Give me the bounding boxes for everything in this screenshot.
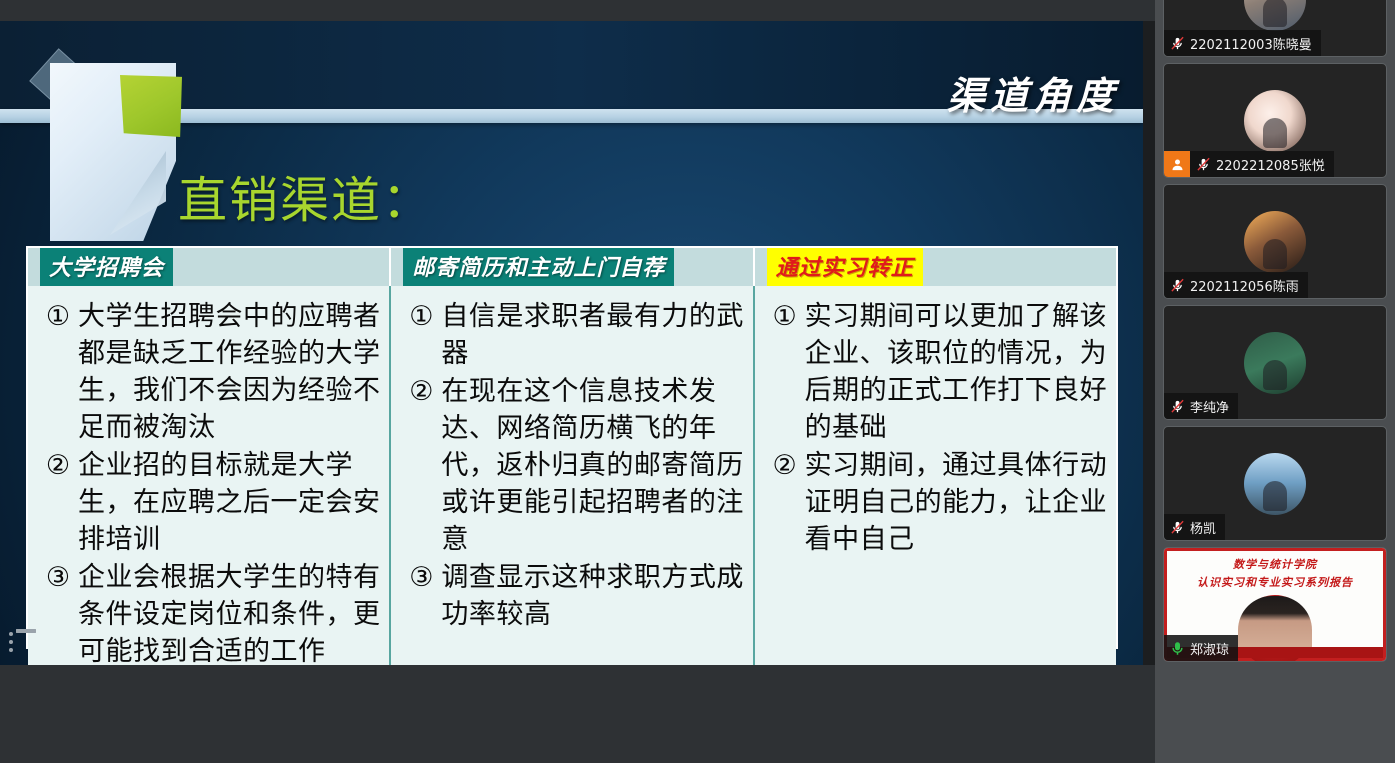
participant-nameplate: 2202212085张悦 [1164,151,1334,177]
participant-tile[interactable]: 2202112003陈晓曼 [1163,0,1387,57]
participant-name: 2202112003陈晓曼 [1190,34,1312,53]
list-item-number: ② [765,447,805,484]
mic-muted-icon [1164,398,1190,415]
list-item-text: 在现在这个信息技术发达、网络简历横飞的年代，返朴归真的邮寄简历或许更能引起招聘者… [441,373,744,558]
list-item: ② 实习期间，通过具体行动证明自己的能力，让企业看中自己 [765,447,1108,558]
list-item-text: 调查显示这种求职方式成功率较高 [441,559,744,633]
list-item: ① 大学生招聘会中的应聘者都是缺乏工作经验的大学生，我们不会因为经验不足而被淘汰 [38,298,381,446]
top-chrome-bar [0,0,1155,21]
list-item-text: 实习期间，通过具体行动证明自己的能力，让企业看中自己 [805,447,1108,558]
participant-name: 郑淑琼 [1190,639,1229,658]
column-header-label-1: 大学招聘会 [40,248,173,286]
list-item-number: ① [38,298,78,335]
column-body-cell-1: ① 大学生招聘会中的应聘者都是缺乏工作经验的大学生，我们不会因为经验不足而被淘汰… [28,286,389,665]
app-root: 渠道角度 直销渠道： 大学招聘会 邮寄简历和主动上门自荐 通过实习转正 [0,0,1395,763]
participant-tile-host[interactable]: 数学与统计学院 认识实习和专业实习系列报告 郑淑琼 [1163,547,1387,662]
list-item-number: ① [401,298,441,335]
list-item-text: 企业招的目标就是大学生，在应聘之后一定会安排培训 [78,447,381,558]
list-item: ① 实习期间可以更加了解该企业、该职位的情况，为后期的正式工作打下良好的基础 [765,298,1108,446]
list-item: ② 企业招的目标就是大学生，在应聘之后一定会安排培训 [38,447,381,558]
content-table-body-row: ① 大学生招聘会中的应聘者都是缺乏工作经验的大学生，我们不会因为经验不足而被淘汰… [28,286,1116,665]
participant-tile[interactable]: 杨凯 [1163,426,1387,541]
list-item: ③ 企业会根据大学生的特有条件设定岗位和条件，更可能找到合适的工作 [38,559,381,665]
avatar [1244,0,1306,31]
list-item-number: ① [765,298,805,335]
list-item-number: ② [401,373,441,410]
participant-nameplate: 2202112003陈晓曼 [1164,30,1321,56]
avatar [1244,211,1306,273]
participant-nameplate: 李纯净 [1164,393,1238,419]
participant-name: 李纯净 [1190,397,1229,416]
content-table: 大学招聘会 邮寄简历和主动上门自荐 通过实习转正 ① 大学生招聘会中的应聘者都是… [26,246,1118,649]
stage-bottom-bar [0,665,1155,763]
column-header-label-3: 通过实习转正 [767,248,923,286]
participant-tile[interactable]: 李纯净 [1163,305,1387,420]
participant-nameplate: 2202112056陈雨 [1164,272,1308,298]
slide-heading: 直销渠道： [178,161,433,232]
list-item-number: ② [38,447,78,484]
participant-tile[interactable]: 2202112056陈雨 [1163,184,1387,299]
participant-nameplate: 杨凯 [1164,514,1225,540]
mic-muted-icon [1164,519,1190,536]
participant-name: 2202212085张悦 [1216,155,1325,174]
list-item-number: ③ [401,559,441,596]
participant-filmstrip[interactable]: 2202112003陈晓曼 2202212085张悦 220211 [1155,0,1395,763]
paper-decoration [36,55,201,243]
column-header-cell-1: 大学招聘会 [28,248,389,286]
list-menu-icon[interactable] [8,629,38,655]
list-item-text: 企业会根据大学生的特有条件设定岗位和条件，更可能找到合适的工作 [78,559,381,665]
shared-screen-stage[interactable]: 渠道角度 直销渠道： 大学招聘会 邮寄简历和主动上门自荐 通过实习转正 [0,21,1143,665]
participant-name: 2202112056陈雨 [1190,276,1299,295]
column-body-cell-3: ① 实习期间可以更加了解该企业、该职位的情况，为后期的正式工作打下良好的基础 ②… [753,286,1116,665]
avatar [1244,90,1306,152]
list-item-text: 实习期间可以更加了解该企业、该职位的情况，为后期的正式工作打下良好的基础 [805,298,1108,446]
avatar [1244,332,1306,394]
slide-header-title: 渠道角度 [947,65,1119,120]
mic-muted-icon [1190,156,1216,173]
host-slide-line2: 认识实习和专业实习系列报告 [1167,574,1383,590]
column-header-cell-3: 通过实习转正 [753,248,1116,286]
mic-active-icon [1164,640,1190,657]
participant-tile[interactable]: 2202212085张悦 [1163,63,1387,178]
content-table-header-row: 大学招聘会 邮寄简历和主动上门自荐 通过实习转正 [28,248,1116,286]
list-item-number: ③ [38,559,78,596]
list-item-text: 大学生招聘会中的应聘者都是缺乏工作经验的大学生，我们不会因为经验不足而被淘汰 [78,298,381,446]
participant-name: 杨凯 [1190,518,1216,537]
column-body-cell-2: ① 自信是求职者最有力的武器 ② 在现在这个信息技术发达、网络简历横飞的年代，返… [389,286,752,665]
mic-muted-icon [1164,35,1190,52]
avatar [1244,453,1306,515]
list-item: ② 在现在这个信息技术发达、网络简历横飞的年代，返朴归真的邮寄简历或许更能引起招… [401,373,744,558]
mic-muted-icon [1164,277,1190,294]
column-header-cell-2: 邮寄简历和主动上门自荐 [389,248,752,286]
host-slide-line1: 数学与统计学院 [1167,556,1383,572]
host-badge-icon [1164,151,1190,177]
list-item: ③ 调查显示这种求职方式成功率较高 [401,559,744,633]
list-item: ① 自信是求职者最有力的武器 [401,298,744,372]
list-item-text: 自信是求职者最有力的武器 [441,298,744,372]
participant-nameplate: 郑淑琼 [1164,635,1238,661]
column-header-label-2: 邮寄简历和主动上门自荐 [403,248,674,286]
sticky-note-icon [120,75,182,137]
